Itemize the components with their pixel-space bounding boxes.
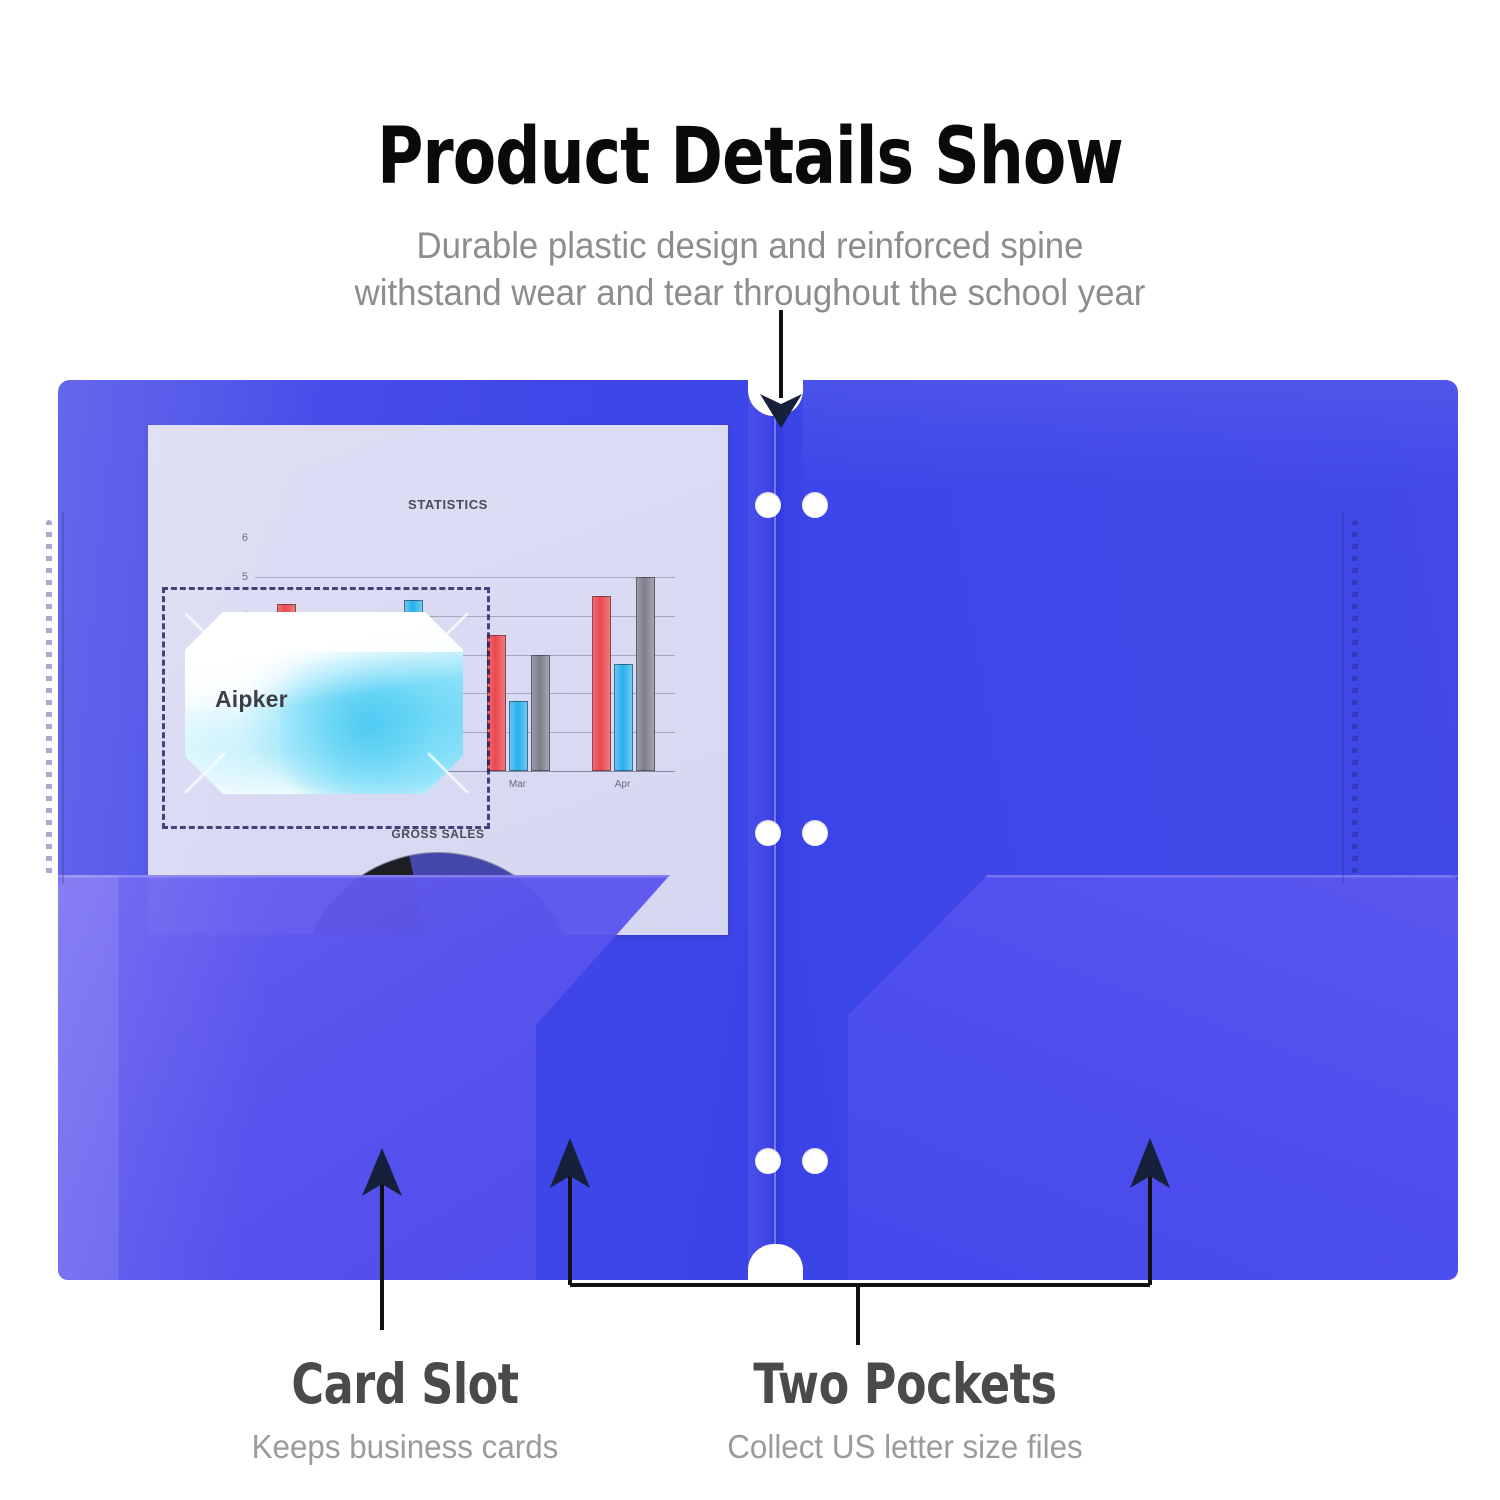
- bar-chart-title: STATISTICS: [213, 497, 683, 512]
- punch-hole: [802, 492, 828, 518]
- bar-series-blue-Apr: [614, 664, 633, 771]
- y-axis-tick: 5: [242, 571, 248, 583]
- left-pocket-seam-line: [62, 512, 64, 884]
- x-axis-tick: Apr: [615, 779, 631, 790]
- callout-card-slot: Card Slot Keeps business cards: [195, 1352, 615, 1466]
- punch-hole: [755, 492, 781, 518]
- page-title: Product Details Show: [75, 112, 1425, 202]
- right-pocket: [848, 875, 1458, 1280]
- punch-hole: [802, 820, 828, 846]
- business-card: Aipker: [185, 612, 463, 794]
- callout-two-pockets-subtitle: Collect US letter size files: [658, 1428, 1152, 1466]
- folder-product: STATISTICS 0123456JanFebMarApr GROSS SAL…: [58, 380, 1458, 1280]
- page-subtitle: Durable plastic design and reinforced sp…: [224, 222, 1277, 317]
- bar-series-red-Apr: [592, 596, 611, 771]
- punch-hole: [755, 1148, 781, 1174]
- bar-series-blue-Mar: [509, 701, 528, 771]
- page-subtitle-line-2: withstand wear and tear throughout the s…: [224, 269, 1277, 316]
- callout-two-pockets-title: Two Pockets: [671, 1352, 1139, 1416]
- gridline: [255, 538, 675, 539]
- pie-chart-title: GROSS SALES: [148, 827, 728, 841]
- left-pocket-rib-texture: [46, 520, 52, 875]
- bar-series-gray-Apr: [636, 577, 655, 771]
- y-axis-tick: 6: [242, 532, 248, 544]
- callout-two-pockets: Two Pockets Collect US letter size files: [645, 1352, 1165, 1466]
- card-brand-name: Aipker: [215, 686, 288, 713]
- right-pocket-rib-texture: [1352, 520, 1358, 875]
- punch-hole: [755, 820, 781, 846]
- right-pocket-seam-line: [1342, 512, 1344, 884]
- punch-hole: [802, 1148, 828, 1174]
- callout-card-slot-subtitle: Keeps business cards: [206, 1428, 605, 1466]
- callout-card-slot-title: Card Slot: [216, 1352, 594, 1416]
- x-axis-tick: Mar: [509, 779, 526, 790]
- product-detail-image: Product Details Show Durable plastic des…: [0, 0, 1500, 1500]
- bar-series-gray-Mar: [531, 655, 550, 772]
- page-subtitle-line-1: Durable plastic design and reinforced sp…: [224, 222, 1277, 269]
- gridline: [255, 577, 675, 578]
